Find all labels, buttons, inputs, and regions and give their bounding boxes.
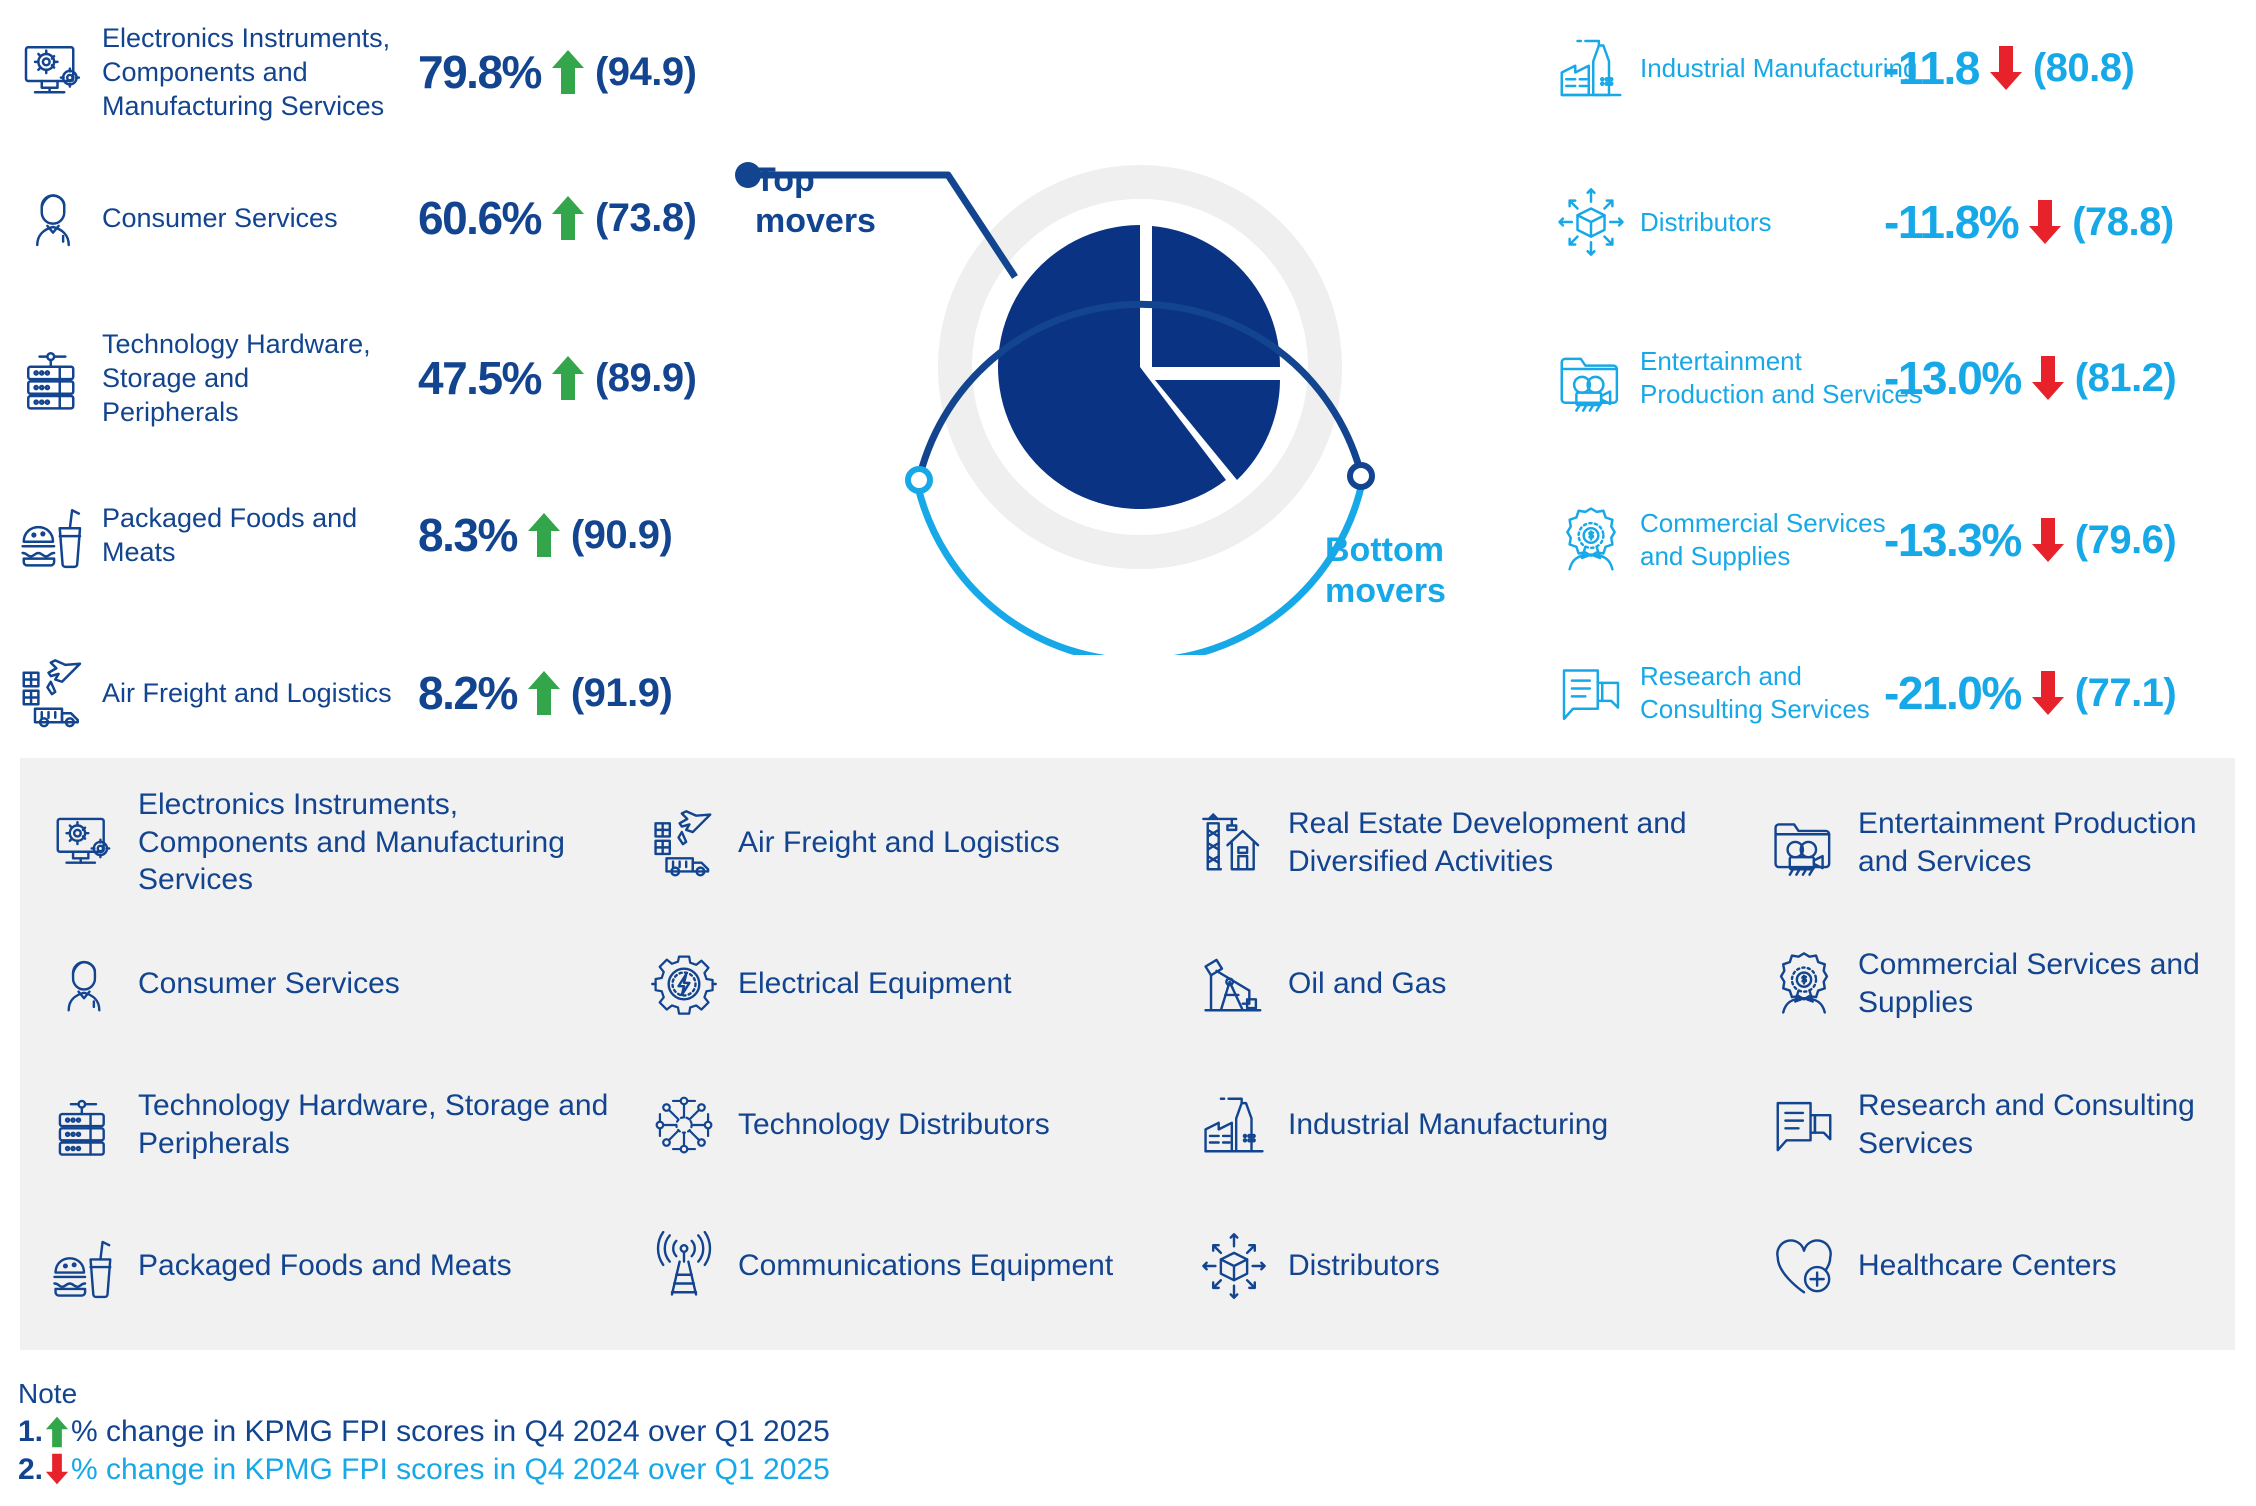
legend-label: Research and Consulting Services: [1842, 1087, 2235, 1162]
green-up-arrow-icon: [551, 195, 585, 241]
legend-item-oil-and-gas: Oil and Gas: [1170, 913, 1740, 1054]
burger-drink-icon: [46, 1228, 122, 1304]
top-mover-stat: 47.5% (89.9): [418, 351, 696, 405]
electronics-monitor-gear-icon: [14, 33, 92, 111]
legend-label: Packaged Foods and Meats: [122, 1247, 512, 1285]
score-value: (94.9): [595, 50, 697, 95]
heart-plus-icon: [1766, 1228, 1842, 1304]
crane-house-icon: [1196, 805, 1272, 881]
note-text: % change in KPMG FPI scores in Q4 2024 o…: [71, 1451, 830, 1489]
legend-item-research-consulting: Research and Consulting Services: [1740, 1054, 2235, 1195]
top-mover-row-3: Technology Hardware, Storage and Periphe…: [14, 314, 704, 442]
legend-label: Technology Distributors: [722, 1106, 1050, 1144]
legend-item-packaged-foods: Packaged Foods and Meats: [20, 1195, 620, 1336]
bottom-mover-row-3: Entertainment Production and Services -1…: [1552, 314, 2252, 442]
legend-label: Oil and Gas: [1272, 965, 1446, 1003]
burger-drink-icon: [14, 496, 92, 574]
score-value: (73.8): [595, 196, 697, 241]
bottom-mover-stat: -11.8% (78.8): [1884, 195, 2174, 249]
electronics-monitor-gear-icon: [46, 805, 122, 881]
top-mover-label: Electronics Instruments, Components and …: [92, 21, 392, 123]
gear-badge-dollar-icon: [1552, 501, 1630, 579]
legend-item-electronics: Electronics Instruments, Components and …: [20, 772, 620, 913]
legend-item-air-freight: Air Freight and Logistics: [620, 772, 1170, 913]
note-number: 1.: [18, 1413, 43, 1451]
box-arrows-icon: [1552, 183, 1630, 261]
antenna-tower-icon: [646, 1228, 722, 1304]
red-down-arrow-icon: [2031, 517, 2065, 563]
bottom-mover-stat: -11.8 (80.8): [1884, 41, 2134, 95]
infographic-page: Top movers Bottom movers Electronics Ins…: [0, 0, 2256, 1506]
bottom-movers-caption-line2: movers: [1325, 571, 1446, 612]
legend-label: Electronics Instruments, Components and …: [122, 786, 620, 899]
top-mover-row-2: Consumer Services 60.6% (73.8): [14, 178, 704, 258]
change-value: -13.0%: [1884, 351, 2021, 405]
top-mover-stat: 60.6% (73.8): [418, 191, 696, 245]
plane-truck-boxes-icon: [646, 805, 722, 881]
change-value: -13.3%: [1884, 513, 2021, 567]
note-block: Note 1. % change in KPMG FPI scores in Q…: [18, 1378, 830, 1488]
bottom-movers-caption-line1: Bottom: [1325, 530, 1446, 571]
legend-label: Air Freight and Logistics: [722, 824, 1060, 862]
change-value: -21.0%: [1884, 666, 2021, 720]
change-value: -11.8: [1884, 41, 1979, 95]
note-text: % change in KPMG FPI scores in Q4 2024 o…: [71, 1413, 830, 1451]
top-movers-caption: Top movers: [755, 160, 876, 243]
legend-item-electrical-equipment: Electrical Equipment: [620, 913, 1170, 1054]
bottom-mover-stat: -21.0% (77.1): [1884, 666, 2176, 720]
plane-truck-boxes-icon: [14, 654, 92, 732]
legend-item-entertainment: Entertainment Production and Services: [1740, 772, 2235, 913]
legend-item-tech-distributors: Technology Distributors: [620, 1054, 1170, 1195]
top-mover-stat: 8.3% (90.9): [418, 508, 672, 562]
top-movers-caption-line1: Top: [755, 160, 876, 201]
score-value: (89.9): [595, 356, 697, 401]
factory-icon: [1196, 1087, 1272, 1163]
top-mover-stat: 79.8% (94.9): [418, 45, 696, 99]
bottom-mover-stat: -13.3% (79.6): [1884, 513, 2176, 567]
circuit-node-icon: [646, 1087, 722, 1163]
consumer-person-icon: [46, 946, 122, 1022]
legend-item-real-estate: Real Estate Development and Diversified …: [1170, 772, 1740, 913]
green-up-arrow-icon: [527, 670, 561, 716]
movers-area: Top movers Bottom movers Electronics Ins…: [0, 0, 2256, 752]
note-title: Note: [18, 1378, 830, 1410]
film-folder-icon: [1766, 805, 1842, 881]
server-rack-icon: [14, 339, 92, 417]
legend-label: Distributors: [1272, 1247, 1440, 1285]
legend-label: Healthcare Centers: [1842, 1247, 2116, 1285]
top-movers-caption-line2: movers: [755, 201, 876, 242]
score-value: (79.6): [2075, 518, 2177, 563]
change-value: 60.6%: [418, 191, 541, 245]
legend-label: Industrial Manufacturing: [1272, 1106, 1608, 1144]
legend-label: Communications Equipment: [722, 1247, 1113, 1285]
green-up-arrow-icon: [527, 512, 561, 558]
bottom-mover-stat: -13.0% (81.2): [1884, 351, 2176, 405]
score-value: (90.9): [571, 513, 673, 558]
consumer-person-icon: [14, 179, 92, 257]
top-mover-label: Packaged Foods and Meats: [92, 501, 392, 569]
legend-item-healthcare-centers: Healthcare Centers: [1740, 1195, 2235, 1336]
bottom-mover-row-2: Distributors -11.8% (78.8): [1552, 172, 2252, 272]
score-value: (91.9): [571, 671, 673, 716]
bottom-mover-row-5: Research and Consulting Services -21.0% …: [1552, 643, 2252, 743]
score-value: (81.2): [2075, 356, 2177, 401]
legend-item-commercial-services: Commercial Services and Supplies: [1740, 913, 2235, 1054]
film-folder-icon: [1552, 339, 1630, 417]
note-item-2: 2. % change in KPMG FPI scores in Q4 202…: [18, 1451, 830, 1489]
score-value: (80.8): [2033, 46, 2135, 91]
oil-pump-icon: [1196, 946, 1272, 1022]
change-value: 79.8%: [418, 45, 541, 99]
red-down-arrow-icon: [45, 1453, 69, 1485]
legend-label: Consumer Services: [122, 965, 400, 1003]
change-value: 47.5%: [418, 351, 541, 405]
top-mover-row-1: Electronics Instruments, Components and …: [14, 8, 704, 136]
green-up-arrow-icon: [45, 1416, 69, 1448]
server-rack-icon: [46, 1087, 122, 1163]
top-mover-stat: 8.2% (91.9): [418, 666, 672, 720]
bottom-mover-row-1: Industrial Manufacturing -11.8 (80.8): [1552, 18, 2252, 118]
legend-item-communications-equipment: Communications Equipment: [620, 1195, 1170, 1336]
red-down-arrow-icon: [2031, 355, 2065, 401]
change-value: 8.2%: [418, 666, 517, 720]
sector-legend-panel: Electronics Instruments, Components and …: [20, 758, 2235, 1350]
box-arrows-icon: [1196, 1228, 1272, 1304]
legend-label: Technology Hardware, Storage and Periphe…: [122, 1087, 620, 1162]
bottom-movers-caption: Bottom movers: [1325, 530, 1446, 613]
legend-label: Entertainment Production and Services: [1842, 805, 2235, 880]
legend-item-consumer-services: Consumer Services: [20, 913, 620, 1054]
gear-badge-dollar-icon: [1766, 946, 1842, 1022]
bottom-mover-row-4: Commercial Services and Supplies -13.3% …: [1552, 485, 2252, 595]
top-mover-label: Air Freight and Logistics: [92, 676, 392, 710]
legend-item-distributors: Distributors: [1170, 1195, 1740, 1336]
green-up-arrow-icon: [551, 355, 585, 401]
document-chat-icon: [1766, 1087, 1842, 1163]
note-number: 2.: [18, 1451, 43, 1489]
top-mover-label: Consumer Services: [92, 201, 392, 235]
score-value: (78.8): [2072, 200, 2174, 245]
legend-item-tech-hardware: Technology Hardware, Storage and Periphe…: [20, 1054, 620, 1195]
red-down-arrow-icon: [2031, 670, 2065, 716]
score-value: (77.1): [2075, 671, 2177, 716]
legend-label: Real Estate Development and Diversified …: [1272, 805, 1740, 880]
red-down-arrow-icon: [2028, 199, 2062, 245]
legend-item-industrial-mfg: Industrial Manufacturing: [1170, 1054, 1740, 1195]
legend-label: Commercial Services and Supplies: [1842, 946, 2235, 1021]
top-mover-label: Technology Hardware, Storage and Periphe…: [92, 327, 392, 429]
change-value: 8.3%: [418, 508, 517, 562]
note-item-1: 1. % change in KPMG FPI scores in Q4 202…: [18, 1413, 830, 1451]
document-chat-icon: [1552, 654, 1630, 732]
gear-bolt-icon: [646, 946, 722, 1022]
legend-label: Electrical Equipment: [722, 965, 1011, 1003]
top-mover-row-4: Packaged Foods and Meats 8.3% (90.9): [14, 485, 704, 585]
factory-icon: [1552, 29, 1630, 107]
red-down-arrow-icon: [1989, 45, 2023, 91]
change-value: -11.8%: [1884, 195, 2018, 249]
top-mover-row-5: Air Freight and Logistics 8.2% (91.9): [14, 643, 704, 743]
green-up-arrow-icon: [551, 49, 585, 95]
